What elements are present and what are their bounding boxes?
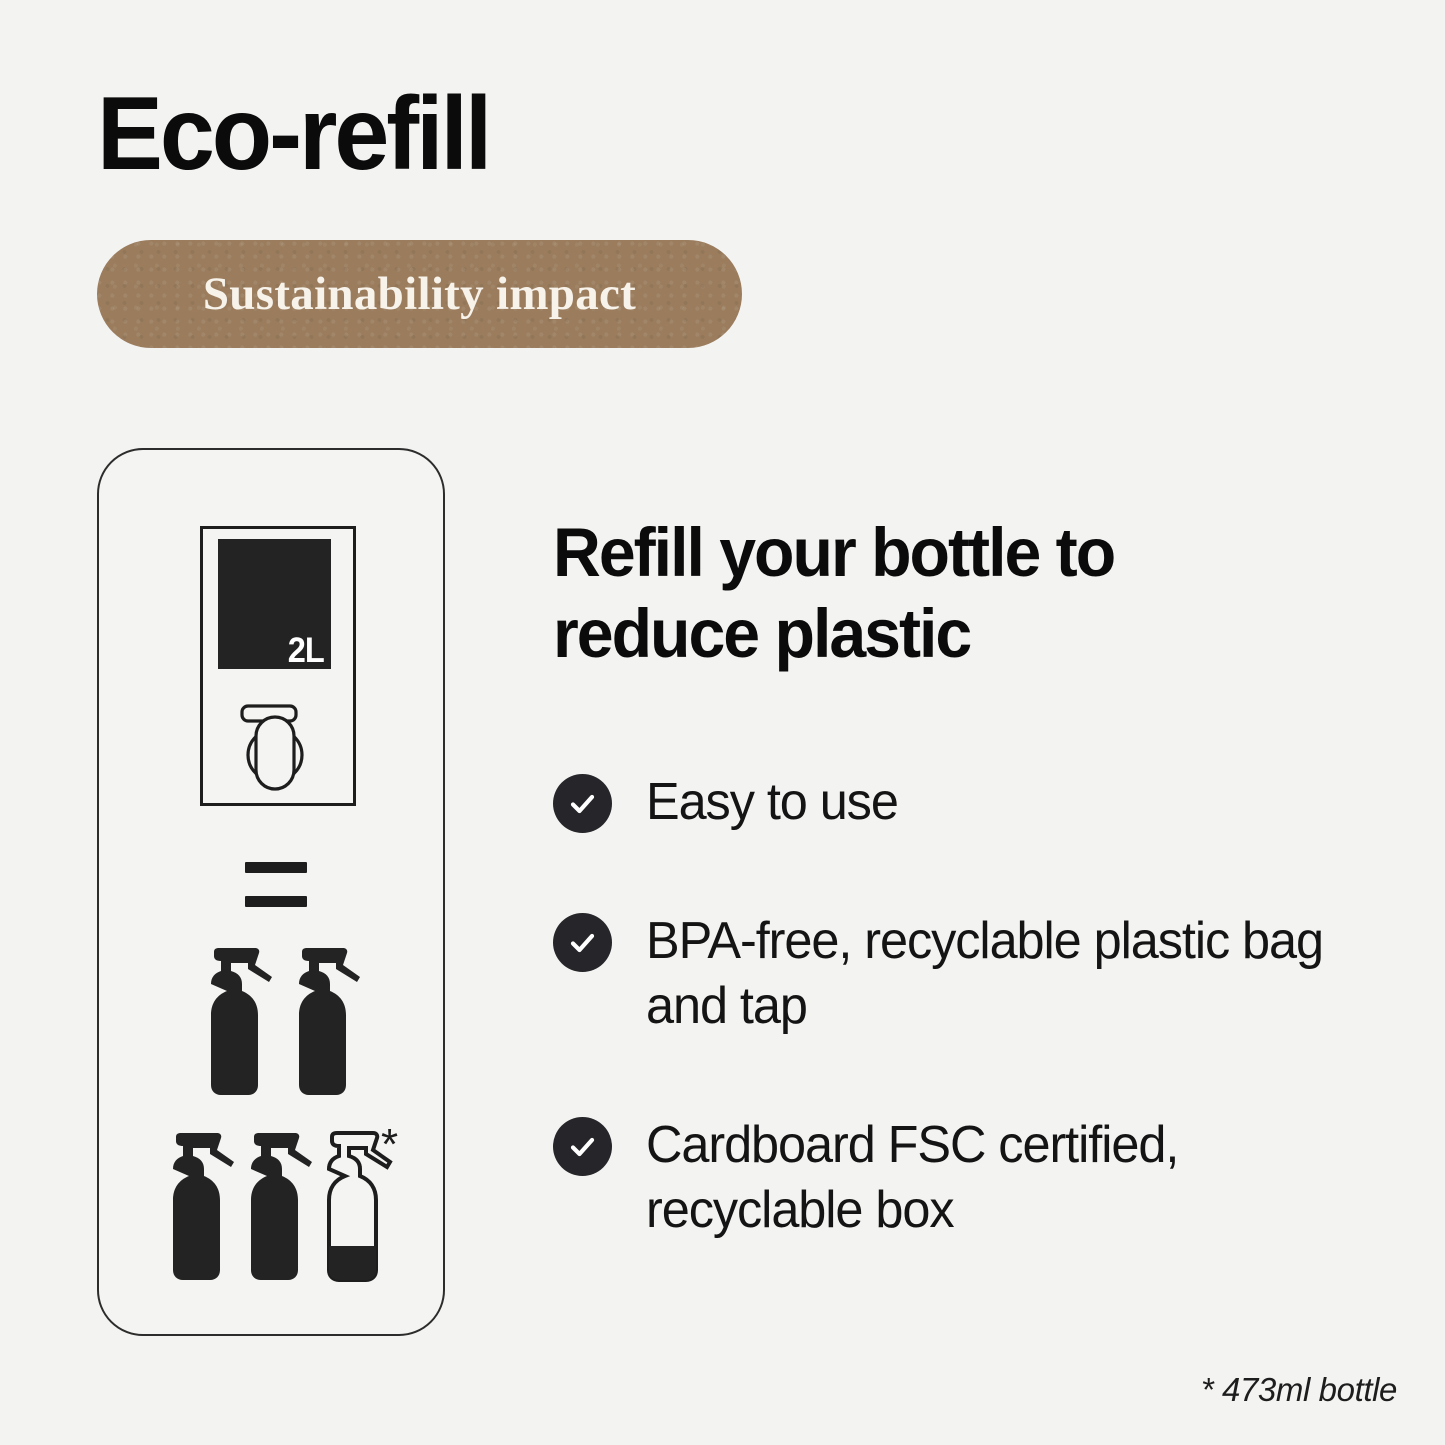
refill-box-label-panel: 2L	[218, 539, 331, 669]
equals-bar-bottom	[245, 896, 307, 907]
page-title: Eco-refill	[97, 82, 489, 186]
spray-bottle-full-icon	[238, 1128, 316, 1286]
check-icon	[553, 913, 612, 972]
spray-bottle-full-icon	[286, 943, 364, 1101]
list-item: BPA-free, recyclable plastic bag and tap	[553, 909, 1383, 1039]
benefit-label: Cardboard FSC certified, recyclable box	[646, 1113, 1361, 1243]
refill-tap-spigot-icon	[232, 700, 318, 792]
benefit-label: BPA-free, recyclable plastic bag and tap	[646, 909, 1361, 1039]
list-item: Cardboard FSC certified, recyclable box	[553, 1113, 1383, 1243]
check-icon	[553, 774, 612, 833]
asterisk-marker: *	[381, 1123, 398, 1167]
spray-bottle-full-icon	[160, 1128, 238, 1286]
benefits-list: Easy to use BPA-free, recyclable plastic…	[553, 770, 1383, 1243]
benefit-label: Easy to use	[646, 770, 898, 835]
volume-label: 2L	[288, 633, 324, 668]
list-item: Easy to use	[553, 770, 1383, 835]
footnote: * 473ml bottle	[1201, 1371, 1397, 1409]
sustainability-impact-badge: Sustainability impact	[97, 240, 742, 348]
check-icon	[553, 1117, 612, 1176]
spray-bottle-full-icon	[198, 943, 276, 1101]
badge-label: Sustainability impact	[203, 267, 636, 321]
equals-bar-top	[245, 862, 307, 873]
equals-symbol	[245, 862, 307, 910]
eco-refill-infographic: Eco-refill Sustainability impact 2L	[0, 0, 1445, 1445]
headline: Refill your bottle to reduce plastic	[553, 513, 1263, 674]
